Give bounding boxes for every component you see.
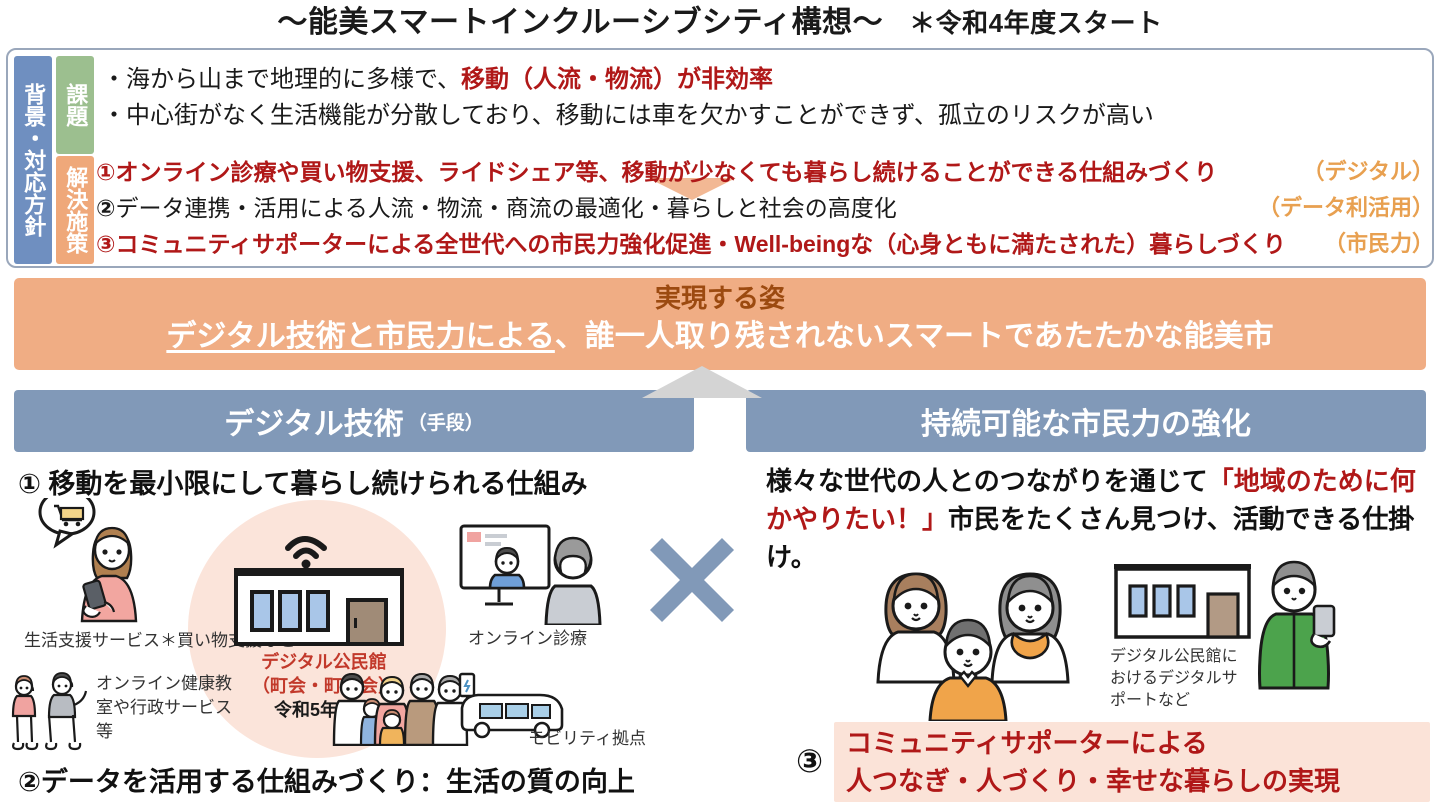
digital-community-center-illustration xyxy=(228,520,418,650)
column-header-digital-sub: （手段） xyxy=(408,408,484,435)
measure-text-3: コミュニティサポーターによる全世代への市民力強化促進・Well-beingな（心… xyxy=(115,231,1285,257)
problem-and-policy-box: 背景・対応方針 課題 解決施策 ・海から山まで地理的に多様で、移動（人流・物流）… xyxy=(6,48,1434,268)
left-column-heading: ① 移動を最小限にして暮らし続けられる仕組み xyxy=(18,462,698,501)
measure-list: ①オンライン診療や買い物支援、ライドシェア等、移動が少なくても暮らし続けることが… xyxy=(96,154,1436,262)
measure-number-1: ① xyxy=(96,159,115,185)
measure-row-1: ①オンライン診療や買い物支援、ライドシェア等、移動が少なくても暮らし続けることが… xyxy=(96,154,1436,190)
online-medical-consultation-illustration xyxy=(455,520,615,625)
caption-mobility-hub: モビリティ拠点 xyxy=(528,728,646,750)
measure-number-3: ③ xyxy=(96,231,115,257)
tab-measure: 解決施策 xyxy=(56,156,94,264)
online-health-class-illustration xyxy=(8,665,98,757)
column-header-digital: デジタル技術（手段） xyxy=(14,390,694,452)
community-supporter-line-2: 人つなぎ・人づくり・幸せな暮らしの実現 xyxy=(846,762,1430,800)
left-column-bottom-heading: ②データを活用する仕組みづくり：生活の質の向上 xyxy=(18,760,718,799)
measure-row-3: ③コミュニティサポーターによる全世代への市民力強化促進・Well-beingな（… xyxy=(96,226,1436,262)
issue-line-1-highlight: 移動（人流・物流）が非効率 xyxy=(461,66,773,93)
multiply-x-icon xyxy=(642,530,742,630)
right-paragraph-pre: 様々な世代の人とのつながりを通じて xyxy=(766,466,1208,496)
vision-statement: デジタル技術と市民力による、誰一人取り残されないスマートであたたかな能美市 xyxy=(14,316,1426,358)
column-header-digital-label: デジタル技術 xyxy=(224,399,403,443)
column-header-citizen: 持続可能な市民力の強化 xyxy=(746,390,1426,452)
vision-underlined: デジタル技術と市民力による xyxy=(166,320,555,353)
shopping-woman-illustration xyxy=(30,498,180,626)
measure-text-2: データ連携・活用による人流・物流・商流の最適化・暮らしと社会の高度化 xyxy=(115,195,896,221)
vision-banner: 実現する姿 デジタル技術と市民力による、誰一人取り残されないスマートであたたかな… xyxy=(14,278,1426,370)
community-people-illustration xyxy=(868,556,1078,721)
page-title: ～能美スマートインクルーシブシティ構想～＊令和4年度スタート xyxy=(0,2,1440,44)
up-arrow-icon xyxy=(642,366,762,398)
digital-supporter-illustration xyxy=(1252,560,1348,690)
vision-rest: 、誰一人取り残されないスマートであたたかな能美市 xyxy=(555,320,1274,353)
caption-digital-support: デジタル公民館におけるデジタルサポートなど xyxy=(1110,646,1250,712)
page-title-main: ～能美スマートインクルーシブシティ構想～ xyxy=(277,6,883,39)
measure-number-2: ② xyxy=(96,195,115,221)
family-group-illustration xyxy=(330,668,470,746)
measure-tag-1: （デジタル） xyxy=(1302,154,1434,190)
tab-issue: 課題 xyxy=(56,56,94,154)
vision-label: 実現する姿 xyxy=(14,278,1426,316)
right-column-paragraph: 様々な世代の人とのつながりを通じて「地域のために何かやりたい！」市民をたくさん見… xyxy=(766,462,1436,576)
measure-3-number: ③ xyxy=(796,742,823,780)
community-center-building-illustration xyxy=(1110,560,1255,645)
measure-tag-2: （データ利活用） xyxy=(1258,190,1434,226)
issue-list: ・海から山まで地理的に多様で、移動（人流・物流）が非効率 ・中心街がなく生活機能… xyxy=(102,62,1422,134)
caption-online-health: オンライン健康教室や行政サービス等 xyxy=(96,672,246,744)
measure-row-2: ②データ連携・活用による人流・物流・商流の最適化・暮らしと社会の高度化 （データ… xyxy=(96,190,1436,226)
issue-line-1-text: ・海から山まで地理的に多様で、 xyxy=(102,66,461,93)
measure-tag-3: （市民力） xyxy=(1324,226,1434,262)
issue-line-2: ・中心街がなく生活機能が分散しており、移動には車を欠かすことができず、孤立のリス… xyxy=(102,98,1422,134)
community-supporter-box: コミュニティサポーターによる 人つなぎ・人づくり・幸せな暮らしの実現 xyxy=(834,722,1430,802)
tab-background-policy: 背景・対応方針 xyxy=(14,56,52,264)
community-supporter-line-1: コミュニティサポーターによる xyxy=(846,724,1430,762)
page-title-note: ＊令和4年度スタート xyxy=(909,8,1162,38)
issue-line-1: ・海から山まで地理的に多様で、移動（人流・物流）が非効率 xyxy=(102,62,1422,98)
measure-text-1: オンライン診療や買い物支援、ライドシェア等、移動が少なくても暮らし続けることがで… xyxy=(115,159,1217,185)
caption-telemedicine: オンライン診療 xyxy=(468,628,587,650)
column-header-citizen-label: 持続可能な市民力の強化 xyxy=(921,399,1251,443)
